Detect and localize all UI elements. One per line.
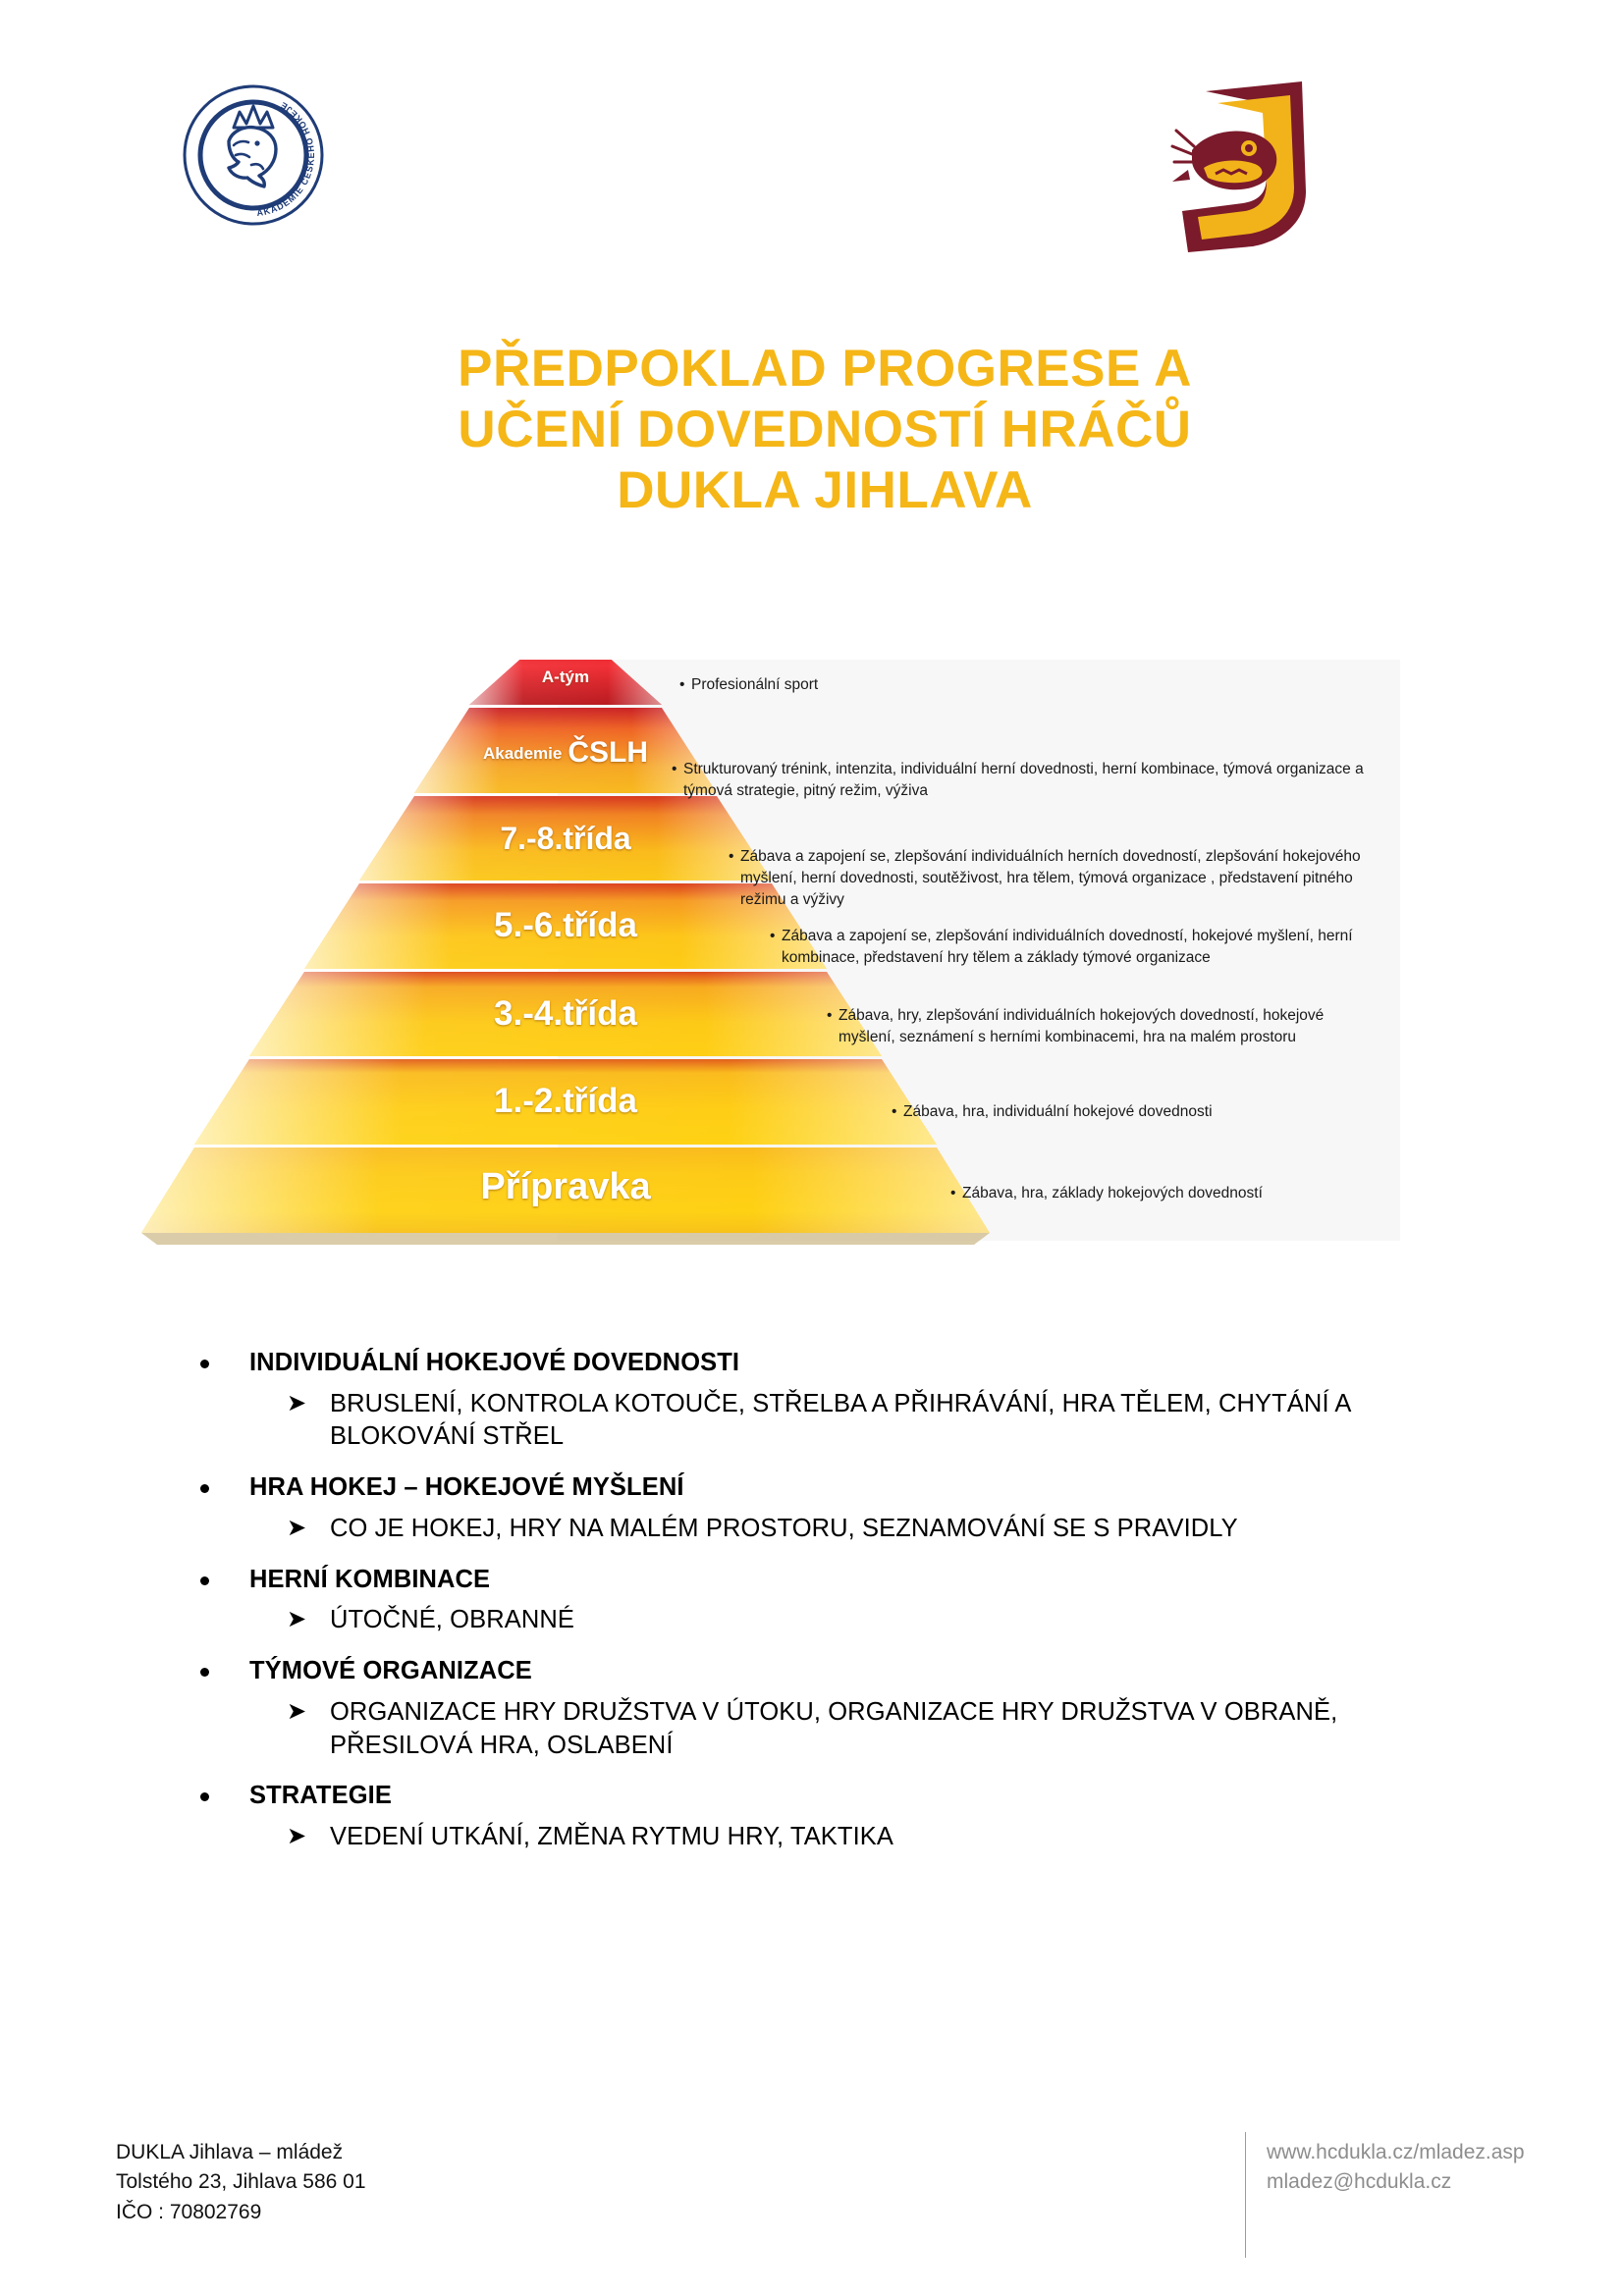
outline-item-1-0-text: CO JE HOKEJ, HRY NA MALÉM PROSTORU, SEZN…: [330, 1515, 1238, 1542]
footer-website-link[interactable]: www.hcdukla.cz/mladez.asp: [1267, 2138, 1525, 2167]
outline-item-1-0: ➤ CO JE HOKEJ, HRY NA MALÉM PROSTORU, SE…: [192, 1513, 1439, 1546]
pyramid-description-2: •Zábava a zapojení se, zlepšování indivi…: [740, 846, 1377, 911]
outline-item-4-0: ➤ VEDENÍ UTKÁNÍ, ZMĚNA RYTMU HRY, TAKTIK…: [192, 1821, 1439, 1854]
akademie-ceskeho-hokeje-logo: AKADEMIE ČESKÉHO HOKEJE: [175, 77, 332, 234]
page-title-line-1: PŘEDPOKLAD PROGRESE A: [196, 339, 1453, 400]
outline-item-0-0: ➤ BRUSLENÍ, KONTROLA KOTOUČE, STŘELBA A …: [192, 1388, 1439, 1455]
arrow-bullet-icon: ➤: [287, 1821, 306, 1852]
arrow-bullet-icon: ➤: [287, 1696, 306, 1728]
bullet-dot-icon: [200, 1576, 209, 1585]
skills-outline-list: INDIVIDUÁLNÍ HOKEJOVÉ DOVEDNOSTI ➤ BRUSL…: [192, 1351, 1439, 1854]
outline-item-2-0-text: ÚTOČNÉ, OBRANNÉ: [330, 1606, 574, 1633]
pyramid-description-5-text: Zábava, hra, individuální hokejové doved…: [903, 1103, 1213, 1120]
outline-item-4-0-text: VEDENÍ UTKÁNÍ, ZMĚNA RYTMU HRY, TAKTIKA: [330, 1823, 893, 1850]
pyramid-description-0: •Profesionální sport: [691, 674, 986, 696]
page-title-line-3: DUKLA JIHLAVA: [196, 460, 1453, 521]
bullet-dot-icon: [200, 1484, 209, 1493]
bullet-dot-icon: [200, 1668, 209, 1677]
header-logo-bar: AKADEMIE ČESKÉHO HOKEJE: [0, 0, 1623, 304]
bullet-dot-icon: [200, 1360, 209, 1368]
pyramid-description-6: •Zábava, hra, základy hokejových dovedno…: [962, 1183, 1394, 1204]
outline-heading-4: STRATEGIE: [192, 1784, 1439, 1809]
outline-heading-1-text: HRA HOKEJ – HOKEJOVÉ MYŠLENÍ: [249, 1473, 684, 1501]
outline-item-2-0: ➤ ÚTOČNÉ, OBRANNÉ: [192, 1604, 1439, 1637]
footer-email-link[interactable]: mladez@hcdukla.cz: [1267, 2167, 1525, 2197]
outline-item-3-0: ➤ ORGANIZACE HRY DRUŽSTVA V ÚTOKU, ORGAN…: [192, 1696, 1439, 1763]
bullet-glyph: •: [827, 1005, 839, 1027]
arrow-bullet-icon: ➤: [287, 1388, 306, 1419]
footer-org-name: DUKLA Jihlava – mládež: [116, 2138, 366, 2167]
pyramid-description-3: •Zábava a zapojení se, zlepšování indivi…: [782, 926, 1363, 969]
bullet-glyph: •: [950, 1183, 962, 1204]
bullet-glyph: •: [672, 759, 683, 780]
page-footer: DUKLA Jihlava – mládež Tolstého 23, Jihl…: [0, 2110, 1623, 2296]
bullet-glyph: •: [729, 846, 740, 868]
dukla-jihlava-logo: [1159, 74, 1325, 260]
outline-heading-4-text: STRATEGIE: [249, 1782, 392, 1809]
outline-heading-0-text: INDIVIDUÁLNÍ HOKEJOVÉ DOVEDNOSTI: [249, 1349, 739, 1376]
pyramid-description-3-text: Zábava a zapojení se, zlepšování individ…: [782, 928, 1353, 966]
outline-heading-3: TÝMOVÉ ORGANIZACE: [192, 1659, 1439, 1684]
outline-item-0-0-text: BRUSLENÍ, KONTROLA KOTOUČE, STŘELBA A PŘ…: [330, 1390, 1350, 1451]
bullet-glyph: •: [770, 926, 782, 947]
pyramid-description-1-text: Strukturovaný trénink, intenzita, indivi…: [683, 761, 1364, 799]
arrow-bullet-icon: ➤: [287, 1604, 306, 1635]
pyramid-description-0-text: Profesionální sport: [691, 676, 818, 693]
footer-contact-block: www.hcdukla.cz/mladez.asp mladez@hcdukla…: [1267, 2138, 1525, 2198]
pyramid-description-4: •Zábava, hry, zlepšování individuálních …: [839, 1005, 1377, 1048]
pyramid-description-1: •Strukturovaný trénink, intenzita, indiv…: [683, 759, 1371, 802]
bullet-glyph: •: [892, 1101, 903, 1123]
outline-heading-0: INDIVIDUÁLNÍ HOKEJOVÉ DOVEDNOSTI: [192, 1351, 1439, 1376]
pyramid-description-5: •Zábava, hra, individuální hokejové dove…: [903, 1101, 1375, 1123]
bullet-glyph: •: [679, 674, 691, 696]
outline-heading-3-text: TÝMOVÉ ORGANIZACE: [249, 1657, 532, 1684]
footer-ico: IČO : 70802769: [116, 2198, 366, 2227]
progression-pyramid-figure: A-tým AkademieČSLH 7.-8.třída 5.-6.třída…: [134, 660, 1400, 1260]
pyramid-description-4-text: Zábava, hry, zlepšování individuálních h…: [839, 1007, 1324, 1045]
footer-address-block: DUKLA Jihlava – mládež Tolstého 23, Jihl…: [116, 2138, 366, 2227]
footer-street-address: Tolstého 23, Jihlava 586 01: [116, 2167, 366, 2197]
outline-heading-1: HRA HOKEJ – HOKEJOVÉ MYŠLENÍ: [192, 1475, 1439, 1501]
outline-heading-2: HERNÍ KOMBINACE: [192, 1568, 1439, 1593]
page-title: PŘEDPOKLAD PROGRESE A UČENÍ DOVEDNOSTÍ H…: [196, 339, 1453, 521]
outline-item-3-0-text: ORGANIZACE HRY DRUŽSTVA V ÚTOKU, ORGANIZ…: [330, 1698, 1337, 1759]
outline-heading-2-text: HERNÍ KOMBINACE: [249, 1566, 490, 1593]
pyramid-description-2-text: Zábava a zapojení se, zlepšování individ…: [740, 848, 1361, 908]
arrow-bullet-icon: ➤: [287, 1513, 306, 1544]
pyramid-description-6-text: Zábava, hra, základy hokejových dovednos…: [962, 1185, 1263, 1201]
footer-vertical-divider: [1245, 2132, 1246, 2258]
page-title-line-2: UČENÍ DOVEDNOSTÍ HRÁČŮ: [196, 400, 1453, 460]
bullet-dot-icon: [200, 1792, 209, 1801]
